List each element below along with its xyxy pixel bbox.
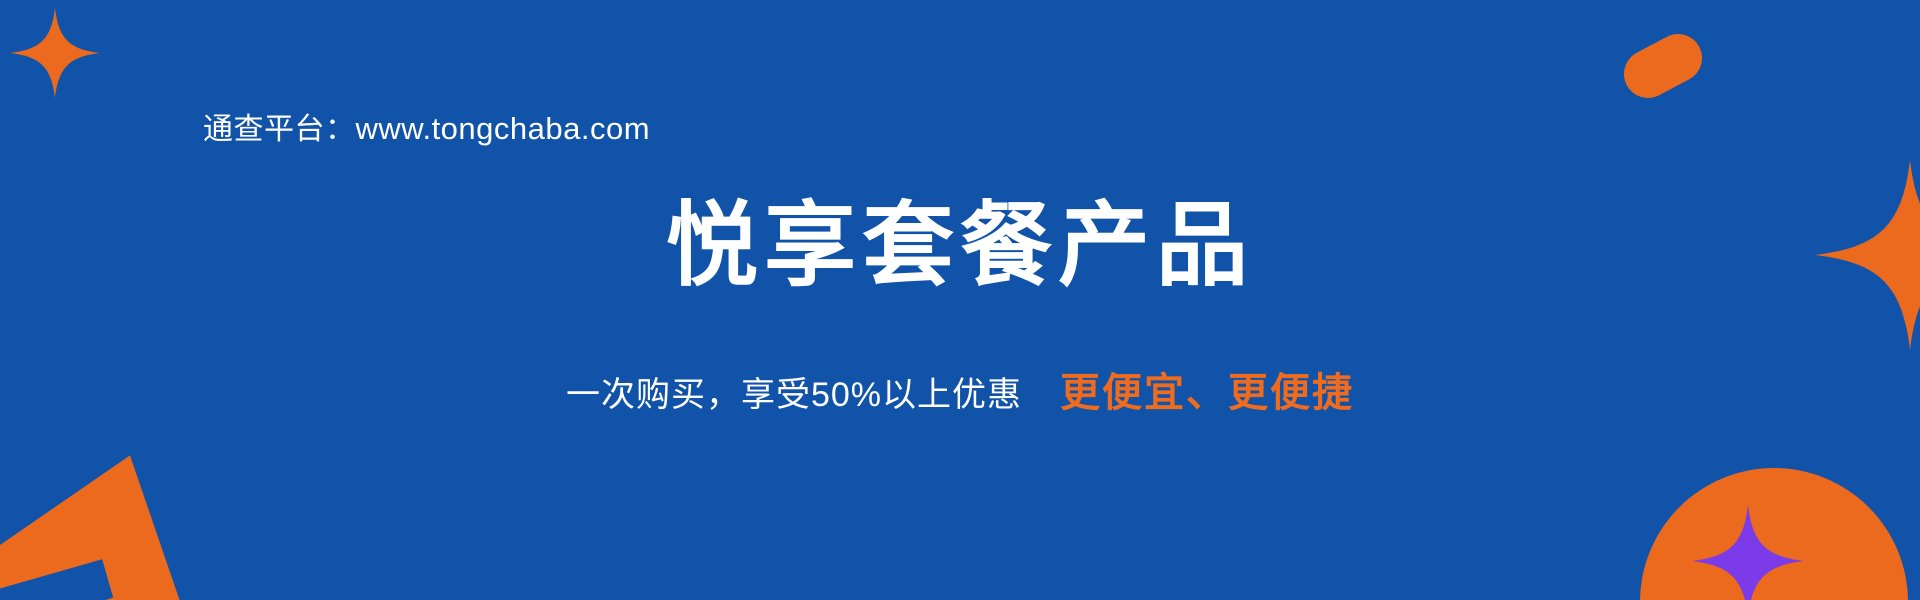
subtitle-line: 一次购买，享受50%以上优惠更便宜、更便捷 — [0, 360, 1920, 418]
platform-url[interactable]: www.tongchaba.com — [356, 111, 651, 146]
capsule-icon — [1616, 26, 1711, 107]
circle-icon — [1640, 468, 1908, 600]
subtitle-highlight-text: 更便宜、更便捷 — [1060, 371, 1354, 415]
four-point-star-icon — [10, 8, 100, 98]
page-title: 悦享套餐产品 — [0, 198, 1920, 295]
platform-label: 通查平台： — [203, 113, 356, 146]
promo-banner: 通查平台：www.tongchaba.com 悦享套餐产品 一次购买，享受50%… — [0, 0, 1920, 600]
triangle-icon — [0, 419, 237, 600]
triangle-notch — [0, 559, 113, 600]
platform-url-line: 通查平台：www.tongchaba.com — [203, 104, 650, 148]
four-point-star-icon — [1692, 505, 1804, 600]
subtitle-plain-text: 一次购买，享受50%以上优惠 — [566, 376, 1022, 414]
